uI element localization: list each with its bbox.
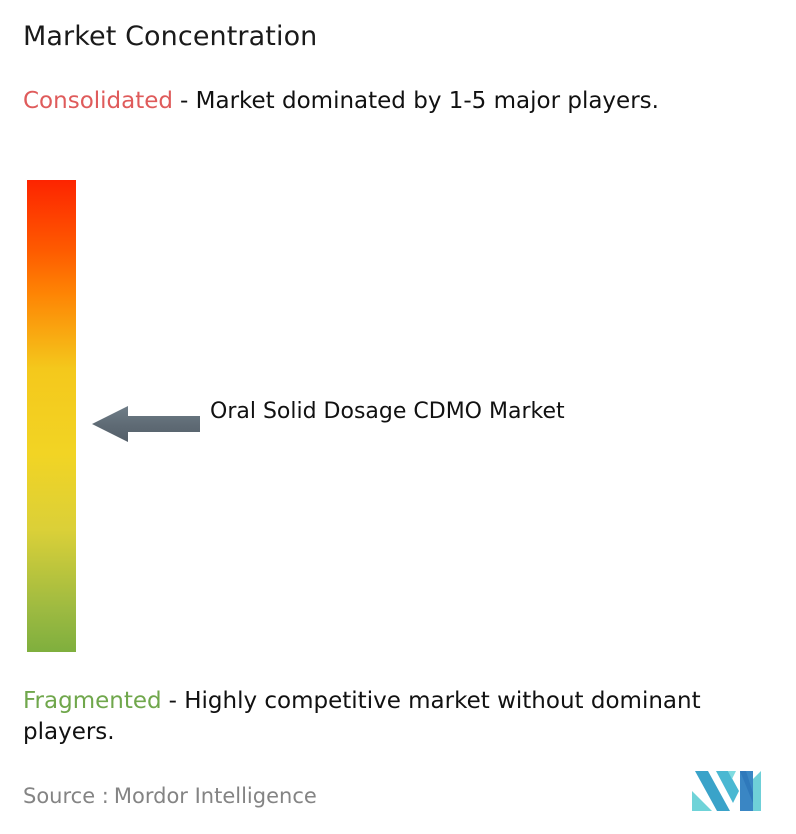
market-concentration-scale-bar — [27, 180, 76, 652]
legend-consolidated-term: Consolidated — [23, 88, 173, 114]
legend-fragmented: Fragmented- Highly competitive market wi… — [23, 686, 783, 748]
source-attribution: Source :Mordor Intelligence — [23, 782, 317, 810]
source-label: Source : — [23, 784, 109, 808]
legend-consolidated-description: - Market dominated by 1-5 major players. — [180, 88, 659, 114]
legend-fragmented-term: Fragmented — [23, 688, 162, 714]
left-arrow-icon — [92, 404, 200, 444]
source-value: Mordor Intelligence — [114, 784, 317, 808]
legend-consolidated: Consolidated- Market dominated by 1-5 ma… — [23, 86, 763, 117]
page-title: Market Concentration — [23, 20, 317, 54]
mordor-intelligence-logo — [690, 769, 764, 813]
marker-label: Oral Solid Dosage CDMO Market — [210, 395, 630, 429]
